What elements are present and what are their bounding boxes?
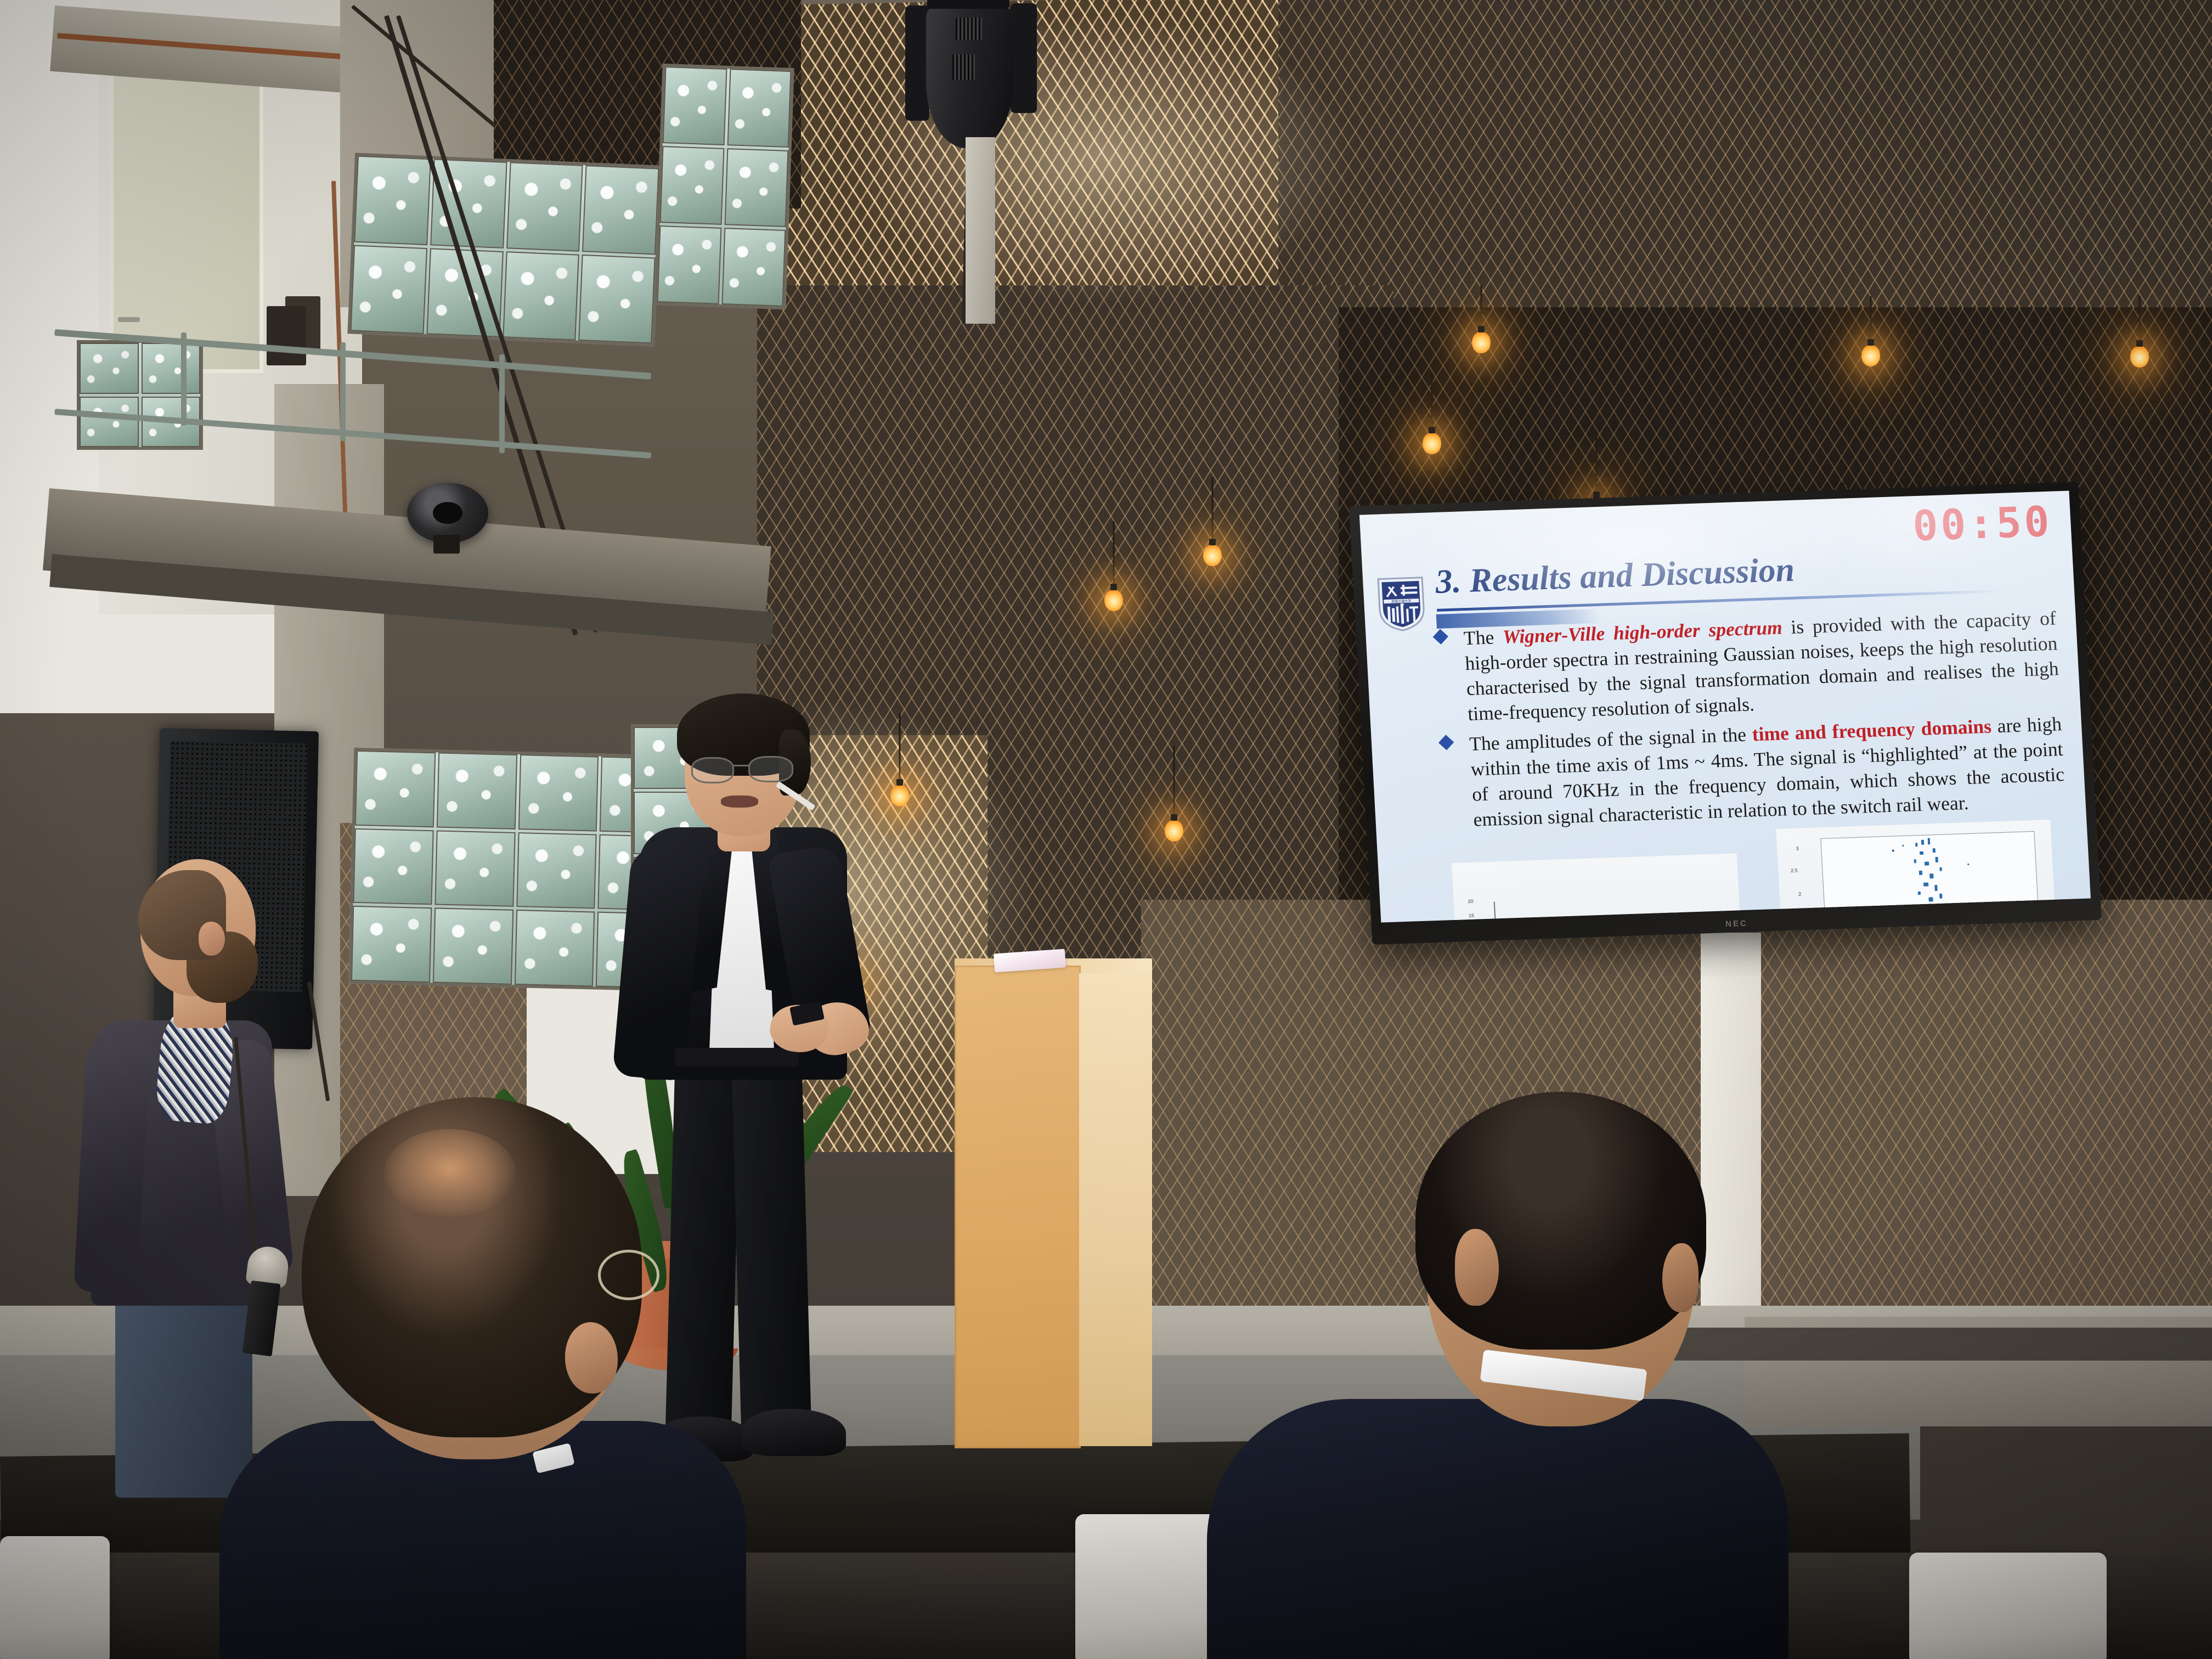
light-bulb-icon bbox=[1423, 432, 1441, 454]
eyeglass-temple-arm bbox=[598, 1250, 659, 1300]
window-pane bbox=[503, 251, 579, 341]
hanging-bulb-3 bbox=[2129, 296, 2151, 368]
window-pane bbox=[355, 751, 436, 827]
bulb-cord bbox=[1173, 746, 1175, 821]
electrical-box-upper bbox=[267, 306, 306, 365]
scatter-axes-frame: 3 2.5 2 1.5 1 0.5 20 40 60 80 100 bbox=[1820, 831, 2042, 923]
stage-light-drop-pole bbox=[966, 137, 995, 324]
scatter-point bbox=[1915, 843, 1917, 847]
scatter-point bbox=[1917, 917, 1919, 920]
window-pane bbox=[433, 908, 513, 985]
bullet-diamond-icon bbox=[1433, 629, 1448, 644]
display-bezel: 00:50 西南交通大学 bbox=[1349, 482, 2102, 945]
slide-bullet-2: The amplitudes of the signal in the time… bbox=[1436, 711, 2066, 833]
southwest-jiaotong-university-shield: 西南交通大学 bbox=[1376, 574, 1427, 633]
podium-front-panel bbox=[955, 966, 1081, 1448]
window-pane bbox=[582, 165, 659, 255]
audience-member-front-left bbox=[219, 1092, 746, 1659]
audience-left-bald-spot bbox=[384, 1129, 516, 1217]
axis-tick-z: 20 bbox=[1468, 899, 1474, 904]
scatter-point bbox=[1921, 840, 1924, 845]
axis-tick-y: 2 bbox=[1798, 891, 1802, 896]
bulb-cord bbox=[1212, 477, 1214, 545]
audience-right-ear-far bbox=[1662, 1243, 1699, 1312]
light-bulb-icon bbox=[1104, 589, 1123, 611]
axis-tick-y: 1.5 bbox=[1793, 915, 1801, 920]
mesh-panel-sunlit bbox=[782, 0, 1336, 312]
scatter-point bbox=[1914, 859, 1916, 863]
scatter-point bbox=[1934, 885, 1938, 891]
reel-mount-bracket bbox=[433, 535, 460, 554]
hanging-bulb-6 bbox=[1201, 477, 1223, 571]
bulb-cord bbox=[1431, 373, 1433, 433]
moderator-ear bbox=[199, 922, 225, 956]
window-upper-left bbox=[347, 153, 662, 346]
scatter-point bbox=[1938, 917, 1942, 923]
audience-right-hair bbox=[1415, 1092, 1706, 1350]
light-bulb-icon bbox=[1165, 820, 1183, 842]
slide-bullet-1: The Wigner-Ville high-order spectrum is … bbox=[1430, 605, 2061, 727]
hanging-bulb-2 bbox=[1860, 296, 1882, 368]
slide-bullet-list: The Wigner-Ville high-order spectrum is … bbox=[1430, 605, 2067, 837]
audience-left-eyeglasses bbox=[598, 1245, 664, 1311]
window-pane bbox=[351, 906, 432, 983]
axis-tick-z: 15 bbox=[1469, 913, 1475, 918]
scatter-point bbox=[1925, 862, 1929, 866]
chair-right[interactable] bbox=[1909, 1553, 2107, 1659]
scatter-point bbox=[1923, 882, 1928, 886]
window-pane bbox=[437, 752, 517, 829]
window-pane bbox=[721, 228, 786, 307]
presenter-eyeglasses bbox=[689, 755, 802, 786]
light-bulb-icon bbox=[1203, 544, 1222, 566]
eyeglass-lens-right bbox=[748, 756, 793, 782]
scatter-point bbox=[1935, 857, 1938, 862]
window-upper-right-tall bbox=[654, 64, 794, 309]
window-pane bbox=[724, 148, 788, 227]
presenter-shoe-right bbox=[742, 1409, 846, 1456]
film-reel-fixture bbox=[407, 483, 488, 543]
photo-scene: 00:50 西南交通大学 bbox=[0, 0, 2212, 1659]
bulb-cord bbox=[899, 713, 901, 786]
bullet-diamond-icon bbox=[1438, 735, 1454, 750]
axis-label-amplitude: Amplitude [W/b] bbox=[1786, 916, 1795, 923]
window-pane bbox=[506, 162, 583, 251]
stage-light-yoke-arm-left bbox=[905, 5, 929, 121]
window-pane bbox=[727, 69, 791, 148]
surface-3d-chart: 20 15 10 5 0 -5 -10 4 3 2 bbox=[1452, 853, 1746, 922]
scatter-point-outlier bbox=[1892, 850, 1894, 852]
surface-ridge-peak-70khz bbox=[1632, 918, 1640, 923]
podium bbox=[955, 966, 1152, 1448]
window-pane bbox=[80, 397, 139, 448]
hanging-bulb-1 bbox=[1470, 285, 1492, 351]
presenter-belt bbox=[675, 1048, 799, 1066]
window-pane bbox=[351, 245, 427, 334]
countdown-timer: 00:50 bbox=[1911, 497, 2053, 551]
eyeglass-bridge bbox=[733, 765, 749, 766]
light-bulb-icon bbox=[2130, 346, 2149, 368]
slide-figures: 20 15 10 5 0 -5 -10 4 3 2 bbox=[1437, 842, 2072, 922]
slide-screen: 00:50 西南交通大学 bbox=[1359, 491, 2091, 923]
film-reel-hub bbox=[433, 502, 462, 524]
window-pane bbox=[660, 146, 724, 225]
window-pane bbox=[353, 828, 433, 905]
scatter-point bbox=[1918, 871, 1922, 875]
axis-tick-y: 2.5 bbox=[1791, 867, 1798, 873]
bullet-2-emphasis: time and frequency domains bbox=[1752, 715, 1992, 745]
scatter-point bbox=[1929, 873, 1933, 878]
window-pane bbox=[435, 830, 515, 907]
light-bulb-icon bbox=[1472, 331, 1491, 353]
window-pane bbox=[657, 225, 721, 304]
scatter-point bbox=[1939, 894, 1942, 899]
hanging-bulb-9 bbox=[1163, 746, 1185, 845]
scatter-point bbox=[1928, 921, 1932, 923]
mezzanine-railing-post-1 bbox=[181, 332, 187, 426]
stage-light-vent-lower bbox=[952, 54, 975, 80]
scatter-point-outlier bbox=[1967, 864, 1969, 865]
figure-25d-plot-area: 3 2.5 2 1.5 1 0.5 20 40 60 80 100 bbox=[1776, 820, 2059, 923]
podium-side-panel bbox=[1079, 973, 1152, 1446]
mezzanine-railing-post-3 bbox=[499, 354, 505, 453]
moving-head-stage-light bbox=[905, 0, 1037, 148]
window-pane bbox=[80, 343, 139, 394]
bulb-cord bbox=[1870, 296, 1872, 346]
mezzanine-railing-post-2 bbox=[340, 342, 346, 441]
audience-left-ear bbox=[565, 1322, 618, 1393]
chair-left[interactable] bbox=[0, 1536, 110, 1659]
surface-ridge bbox=[1561, 922, 1567, 923]
window-pane bbox=[518, 754, 599, 831]
figure-3d-wigner-ville: 20 15 10 5 0 -5 -10 4 3 2 bbox=[1452, 853, 1746, 922]
window-pane bbox=[663, 66, 727, 145]
hanging-bulb-8 bbox=[889, 713, 911, 812]
scatter-point bbox=[1940, 867, 1942, 871]
bullet-1-lead: The bbox=[1463, 626, 1503, 649]
stage-light-head bbox=[926, 6, 1013, 148]
scatter-point bbox=[1920, 851, 1923, 855]
figure-25d-wigner-ville: 3 2.5 2 1.5 1 0.5 20 40 60 80 100 bbox=[1776, 820, 2059, 923]
audience-right-shoulders bbox=[1207, 1399, 1788, 1659]
presentation-display: 00:50 西南交通大学 bbox=[1349, 482, 2102, 945]
light-bulb-icon bbox=[1861, 345, 1880, 366]
window-pane bbox=[578, 254, 655, 343]
hanging-bulb-7 bbox=[1103, 521, 1125, 614]
scatter-point bbox=[1928, 838, 1931, 845]
display-brand-logo: NEC bbox=[1725, 919, 1748, 929]
scatter-point bbox=[1928, 897, 1933, 901]
audience-member-front-right bbox=[1207, 1092, 1788, 1659]
hanging-bulb-4 bbox=[1421, 373, 1443, 455]
audience-right-ear bbox=[1455, 1229, 1499, 1306]
bulb-cord bbox=[1596, 433, 1598, 498]
scatter-point bbox=[1932, 848, 1935, 853]
service-door[interactable] bbox=[110, 66, 263, 373]
stage-light-clamp bbox=[927, 0, 1009, 9]
window-pane bbox=[426, 248, 503, 337]
eyeglass-lens-left bbox=[691, 757, 734, 783]
presenter-mouth bbox=[721, 795, 758, 808]
scatter-point bbox=[1923, 906, 1927, 911]
scatter-point bbox=[1918, 891, 1921, 895]
axis-z-line bbox=[1493, 901, 1499, 922]
mesh-panel-upper-right bbox=[1278, 0, 2212, 351]
scatter-point bbox=[1933, 909, 1938, 913]
window-pane bbox=[354, 156, 431, 245]
axis-tick-y: 3 bbox=[1796, 845, 1799, 851]
stage-light-vent-upper bbox=[956, 18, 982, 40]
slide-title: 3. Results and Discussion bbox=[1435, 551, 1796, 602]
bulb-cord bbox=[2139, 296, 2141, 347]
door-handle[interactable] bbox=[118, 317, 140, 322]
bulb-cord bbox=[1113, 521, 1115, 590]
window-pane bbox=[142, 343, 201, 394]
figure-3d-plot-area: 20 15 10 5 0 -5 -10 4 3 2 bbox=[1452, 853, 1746, 922]
scatter-point-outlier bbox=[1903, 845, 1904, 847]
stage-light-yoke-arm-right bbox=[1011, 3, 1037, 113]
svg-text:西南交通大学: 西南交通大学 bbox=[1391, 599, 1411, 603]
moderator-blazer-sleeve-left bbox=[74, 1039, 150, 1294]
light-bulb-icon bbox=[890, 785, 909, 806]
